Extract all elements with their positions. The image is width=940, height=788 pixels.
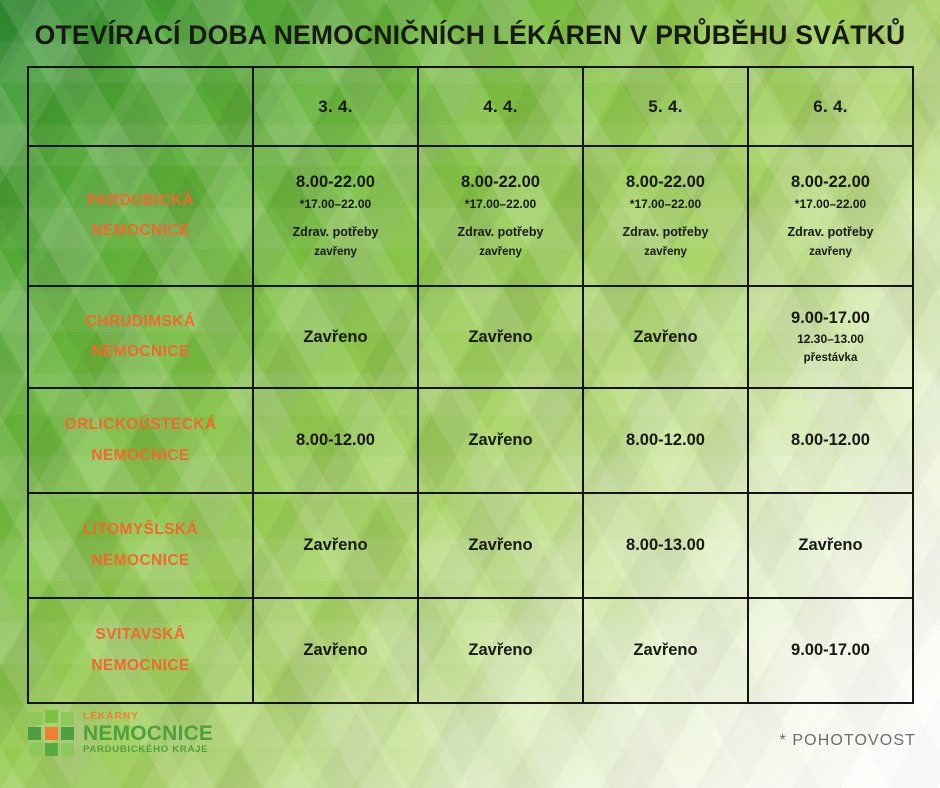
cell-main: Zavřeno bbox=[419, 326, 582, 348]
cell-main: 8.00-13.00 bbox=[584, 534, 747, 556]
logo-square-top-left bbox=[30, 712, 43, 725]
hospital-name-line1: ORLICKOÚSTECKÁ bbox=[29, 410, 252, 440]
poster: OTEVÍRACÍ DOBA NEMOCNIČNÍCH LÉKÁREN V PR… bbox=[0, 0, 940, 788]
logo-square-top-right bbox=[61, 712, 74, 725]
hospital-name-line2: NEMOCNICE bbox=[29, 651, 252, 681]
row-label-chrudimska: CHRUDIMSKÁ NEMOCNICE bbox=[28, 286, 253, 388]
row-label-orlickoustecka: ORLICKOÚSTECKÁ NEMOCNICE bbox=[28, 388, 253, 493]
hospital-name-line1: SVITAVSKÁ bbox=[29, 620, 252, 650]
cell-sub: *17.00–22.00 bbox=[584, 196, 747, 212]
cell-note2: zavřeny bbox=[254, 244, 417, 261]
cell-litomyslska-day4: Zavřeno bbox=[748, 493, 913, 598]
row-label-pardubicka: PARDUBICKÁ NEMOCNICE bbox=[28, 146, 253, 286]
cell-main: Zavřeno bbox=[584, 639, 747, 661]
cell-litomyslska-day1: Zavřeno bbox=[253, 493, 418, 598]
logo-square-left bbox=[28, 727, 41, 740]
column-header-day-4: 6. 4. bbox=[748, 67, 913, 146]
cell-main: 8.00-22.00 bbox=[254, 171, 417, 193]
cell-svitavska-day1: Zavřeno bbox=[253, 598, 418, 703]
cell-chrudimska-day2: Zavřeno bbox=[418, 286, 583, 388]
cell-note: Zdrav. potřeby bbox=[749, 223, 912, 241]
pharmacy-cross-icon bbox=[28, 710, 74, 756]
logo-square-center bbox=[45, 727, 58, 740]
column-header-day-1: 3. 4. bbox=[253, 67, 418, 146]
cell-sub: *17.00–22.00 bbox=[254, 196, 417, 212]
cell-main: Zavřeno bbox=[584, 326, 747, 348]
cell-main: 8.00-12.00 bbox=[254, 429, 417, 451]
cell-main: 9.00-17.00 bbox=[749, 639, 912, 661]
table-row: PARDUBICKÁ NEMOCNICE 8.00-22.00 *17.00–2… bbox=[28, 146, 913, 286]
cell-main: Zavřeno bbox=[419, 534, 582, 556]
legend-pohotovost: * POHOTOVOST bbox=[780, 732, 916, 750]
table-header-row: 3. 4. 4. 4. 5. 4. 6. 4. bbox=[28, 67, 913, 146]
cell-pardubicka-day1: 8.00-22.00 *17.00–22.00 Zdrav. potřeby z… bbox=[253, 146, 418, 286]
cell-litomyslska-day3: 8.00-13.00 bbox=[583, 493, 748, 598]
footer: LÉKÁRNY NEMOCNICE PARDUBICKÉHO KRAJE * P… bbox=[0, 702, 940, 788]
cell-note: Zdrav. potřeby bbox=[254, 223, 417, 241]
cell-note2: zavřeny bbox=[584, 244, 747, 261]
cell-sub: 12.30–13.00 bbox=[749, 331, 912, 347]
cell-main: Zavřeno bbox=[254, 534, 417, 556]
hospital-name-line2: NEMOCNICE bbox=[29, 216, 252, 246]
table-row: ORLICKOÚSTECKÁ NEMOCNICE 8.00-12.00 Zavř… bbox=[28, 388, 913, 493]
cell-sub: *17.00–22.00 bbox=[419, 196, 582, 212]
cell-main: Zavřeno bbox=[419, 639, 582, 661]
logo-line-lekarny: LÉKÁRNY bbox=[83, 712, 213, 722]
column-header-day-3: 5. 4. bbox=[583, 67, 748, 146]
brand-logo-text: LÉKÁRNY NEMOCNICE PARDUBICKÉHO KRAJE bbox=[83, 712, 213, 755]
cell-orlickoustecka-day4: 8.00-12.00 bbox=[748, 388, 913, 493]
cell-note: Zdrav. potřeby bbox=[419, 223, 582, 241]
cell-note2: zavřeny bbox=[419, 244, 582, 261]
schedule-table: 3. 4. 4. 4. 5. 4. 6. 4. PARDUBICKÁ NEMOC… bbox=[27, 66, 914, 704]
cell-main: Zavřeno bbox=[419, 429, 582, 451]
brand-logo: LÉKÁRNY NEMOCNICE PARDUBICKÉHO KRAJE bbox=[28, 710, 213, 756]
table-row: CHRUDIMSKÁ NEMOCNICE Zavřeno Zavřeno Zav… bbox=[28, 286, 913, 388]
cell-pardubicka-day4: 8.00-22.00 *17.00–22.00 Zdrav. potřeby z… bbox=[748, 146, 913, 286]
logo-square-bottom-left bbox=[30, 743, 43, 756]
hospital-name-line1: LITOMYŠLSKÁ bbox=[29, 515, 252, 545]
row-label-svitavska: SVITAVSKÁ NEMOCNICE bbox=[28, 598, 253, 703]
cell-main: 9.00-17.00 bbox=[749, 307, 912, 329]
logo-line-region: PARDUBICKÉHO KRAJE bbox=[83, 745, 213, 755]
hospital-name-line2: NEMOCNICE bbox=[29, 337, 252, 367]
logo-square-right bbox=[61, 727, 74, 740]
page-title: OTEVÍRACÍ DOBA NEMOCNIČNÍCH LÉKÁREN V PR… bbox=[0, 20, 940, 51]
hospital-name-line1: PARDUBICKÁ bbox=[29, 186, 252, 216]
cell-note2: zavřeny bbox=[749, 244, 912, 261]
logo-square-bottom-right bbox=[61, 743, 74, 756]
cell-chrudimska-day4: 9.00-17.00 12.30–13.00 přestávka bbox=[748, 286, 913, 388]
hospital-name-line2: NEMOCNICE bbox=[29, 546, 252, 576]
cell-note: Zdrav. potřeby bbox=[584, 223, 747, 241]
cell-chrudimska-day1: Zavřeno bbox=[253, 286, 418, 388]
cell-main: 8.00-22.00 bbox=[749, 171, 912, 193]
cell-svitavska-day4: 9.00-17.00 bbox=[748, 598, 913, 703]
cell-note2: přestávka bbox=[749, 350, 912, 367]
cell-pardubicka-day2: 8.00-22.00 *17.00–22.00 Zdrav. potřeby z… bbox=[418, 146, 583, 286]
column-header-day-2: 4. 4. bbox=[418, 67, 583, 146]
hospital-name-line1: CHRUDIMSKÁ bbox=[29, 307, 252, 337]
cell-orlickoustecka-day3: 8.00-12.00 bbox=[583, 388, 748, 493]
schedule-table-container: 3. 4. 4. 4. 5. 4. 6. 4. PARDUBICKÁ NEMOC… bbox=[27, 66, 913, 702]
table-row: LITOMYŠLSKÁ NEMOCNICE Zavřeno Zavřeno 8.… bbox=[28, 493, 913, 598]
cell-sub: *17.00–22.00 bbox=[749, 196, 912, 212]
table-row: SVITAVSKÁ NEMOCNICE Zavřeno Zavřeno Zavř… bbox=[28, 598, 913, 703]
cell-main: 8.00-22.00 bbox=[419, 171, 582, 193]
row-label-litomyslska: LITOMYŠLSKÁ NEMOCNICE bbox=[28, 493, 253, 598]
cell-main: 8.00-12.00 bbox=[749, 429, 912, 451]
hospital-name-line2: NEMOCNICE bbox=[29, 441, 252, 471]
cell-main: Zavřeno bbox=[254, 639, 417, 661]
cell-svitavska-day3: Zavřeno bbox=[583, 598, 748, 703]
logo-square-top bbox=[45, 710, 58, 723]
cell-litomyslska-day2: Zavřeno bbox=[418, 493, 583, 598]
table-corner-cell bbox=[28, 67, 253, 146]
logo-square-bottom bbox=[45, 743, 58, 756]
cell-chrudimska-day3: Zavřeno bbox=[583, 286, 748, 388]
cell-svitavska-day2: Zavřeno bbox=[418, 598, 583, 703]
cell-orlickoustecka-day1: 8.00-12.00 bbox=[253, 388, 418, 493]
cell-main: Zavřeno bbox=[749, 534, 912, 556]
cell-main: 8.00-22.00 bbox=[584, 171, 747, 193]
logo-line-nemocnice: NEMOCNICE bbox=[83, 723, 213, 744]
cell-pardubicka-day3: 8.00-22.00 *17.00–22.00 Zdrav. potřeby z… bbox=[583, 146, 748, 286]
cell-main: Zavřeno bbox=[254, 326, 417, 348]
cell-orlickoustecka-day2: Zavřeno bbox=[418, 388, 583, 493]
cell-main: 8.00-12.00 bbox=[584, 429, 747, 451]
